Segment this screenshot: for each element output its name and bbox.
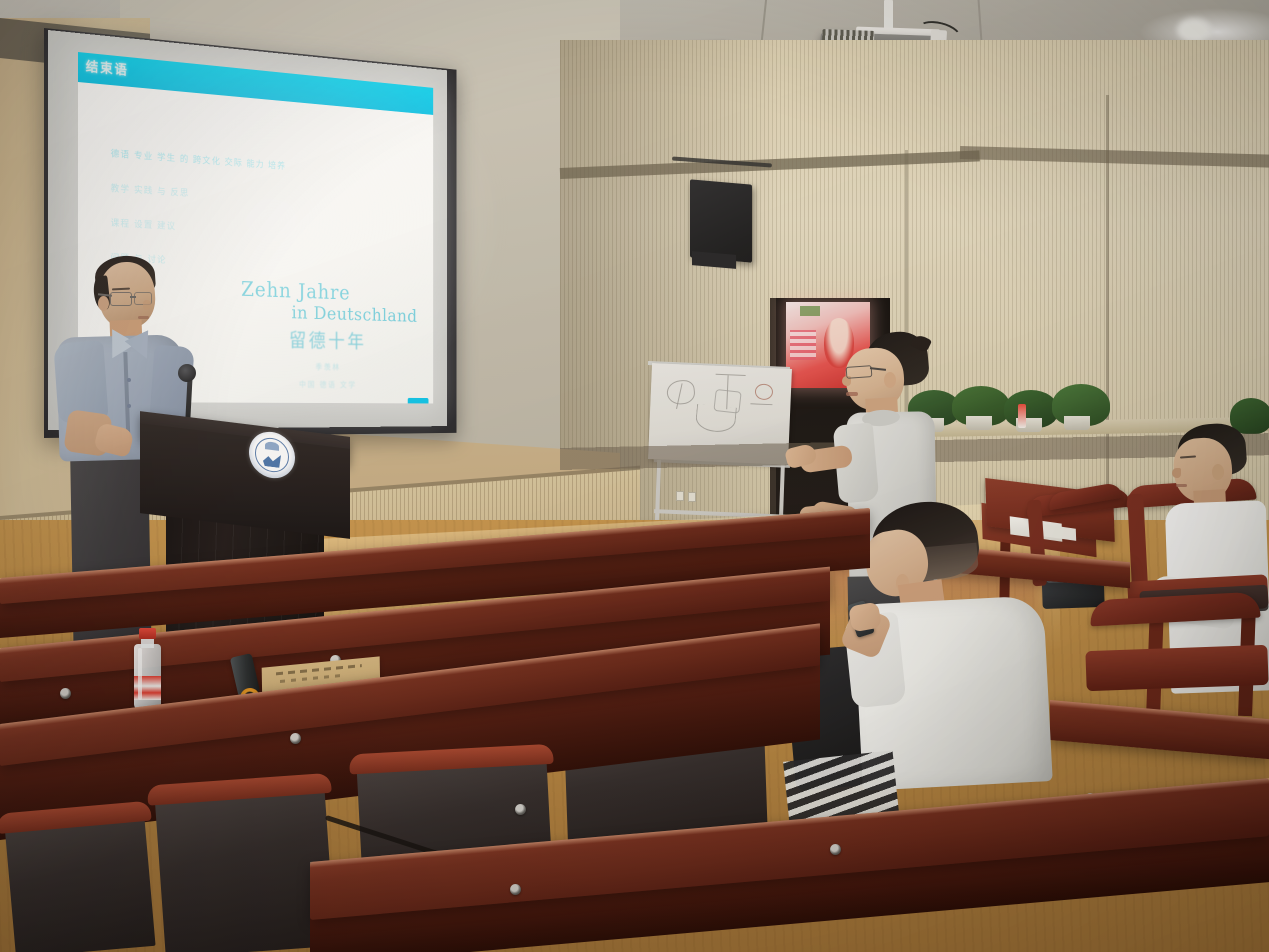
desk-port-icon[interactable] — [60, 688, 71, 699]
television-content — [800, 306, 820, 316]
whiteboard-sketch — [750, 403, 772, 406]
desk-port-icon[interactable] — [515, 804, 526, 815]
seat-back[interactable] — [155, 784, 336, 952]
seated-man-ear — [1212, 464, 1224, 480]
seat-back[interactable] — [4, 812, 155, 952]
bottle-cap[interactable] — [139, 628, 156, 639]
speaker-icon — [690, 179, 752, 262]
flower-pot — [966, 416, 992, 430]
seated-man-mouth — [1176, 484, 1187, 487]
seated-man-nose — [1172, 468, 1181, 478]
ledge-bottle — [1018, 404, 1026, 428]
glasses-icon — [846, 365, 873, 379]
whiteboard-sketch — [716, 374, 746, 377]
handwriting-line — [276, 664, 362, 675]
handwriting-line — [280, 674, 344, 683]
slide-title-chinese: 留德十年 — [229, 323, 422, 354]
presenter-ear — [98, 296, 109, 311]
power-outlet-icon — [676, 491, 684, 501]
whiteboard-sketch — [755, 383, 774, 400]
presenter-nose — [143, 300, 151, 310]
power-outlet-icon — [688, 492, 696, 502]
standing-student-mouth — [846, 392, 858, 396]
flower-pot — [1064, 416, 1090, 430]
shirt-button — [127, 404, 131, 408]
recessed-light-icon — [1177, 18, 1211, 42]
slide-title-block: Zehn Jahre in Deutschland 留德十年 季羡林 中国 德语… — [229, 277, 422, 391]
standing-student-ear — [884, 372, 896, 388]
glasses-icon — [110, 292, 132, 306]
slide-subtitle-2: 中国 德语 文学 — [229, 379, 422, 391]
slide-bullet: 课程 设置 建议 — [111, 216, 392, 244]
whiteboard-sketch — [695, 404, 737, 434]
microphone-icon — [178, 364, 196, 382]
whiteboard-stand — [652, 460, 790, 522]
glasses-bridge — [130, 296, 136, 298]
bottle-highlight — [138, 648, 142, 700]
shirt-button — [127, 378, 131, 382]
desk-port-icon[interactable] — [290, 733, 301, 744]
slide-banner-title: 结束语 — [86, 56, 129, 79]
slide-bullet: 教学 实践 与 反思 — [111, 181, 392, 211]
desk-port-icon[interactable] — [830, 844, 841, 855]
slide-bullet: 德语 专业 学生 的 跨文化 交际 能力 培养 — [111, 146, 392, 179]
lecture-hall-photo: 结束语 ◄ 德语 专业 学生 的 跨文化 交际 能力 培养 教学 实践 与 反思… — [0, 0, 1269, 952]
television-content — [790, 330, 816, 360]
armchair-seat[interactable] — [1085, 645, 1268, 691]
desk-port-icon[interactable] — [510, 884, 521, 895]
whiteboard-stand-leg — [779, 460, 785, 518]
slide-subtitle-1: 季羡林 — [229, 360, 422, 373]
